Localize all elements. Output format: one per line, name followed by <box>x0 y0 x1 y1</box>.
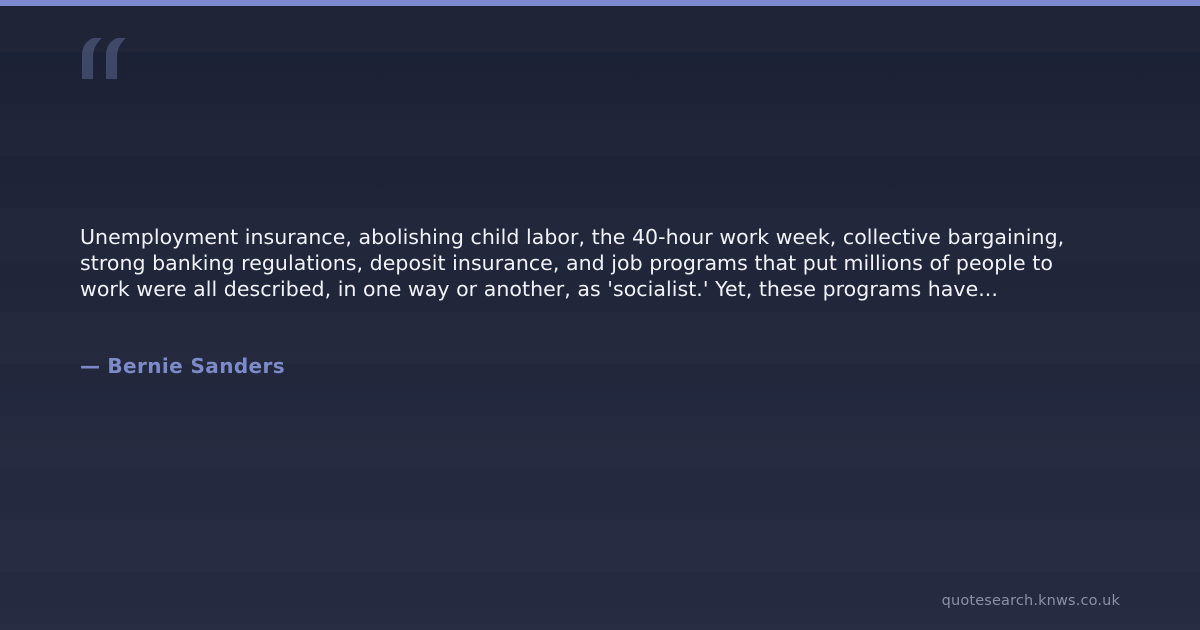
background-band-overlay <box>0 0 1200 630</box>
top-accent-bar <box>0 0 1200 6</box>
author-name: Bernie Sanders <box>107 354 285 378</box>
quote-card: Unemployment insurance, abolishing child… <box>0 0 1200 630</box>
quote-author: —Bernie Sanders <box>80 354 285 378</box>
double-quote-open-icon <box>80 33 140 85</box>
source-url: quotesearch.knws.co.uk <box>942 593 1120 609</box>
quote-text: Unemployment insurance, abolishing child… <box>80 225 1080 302</box>
author-dash: — <box>80 354 100 378</box>
